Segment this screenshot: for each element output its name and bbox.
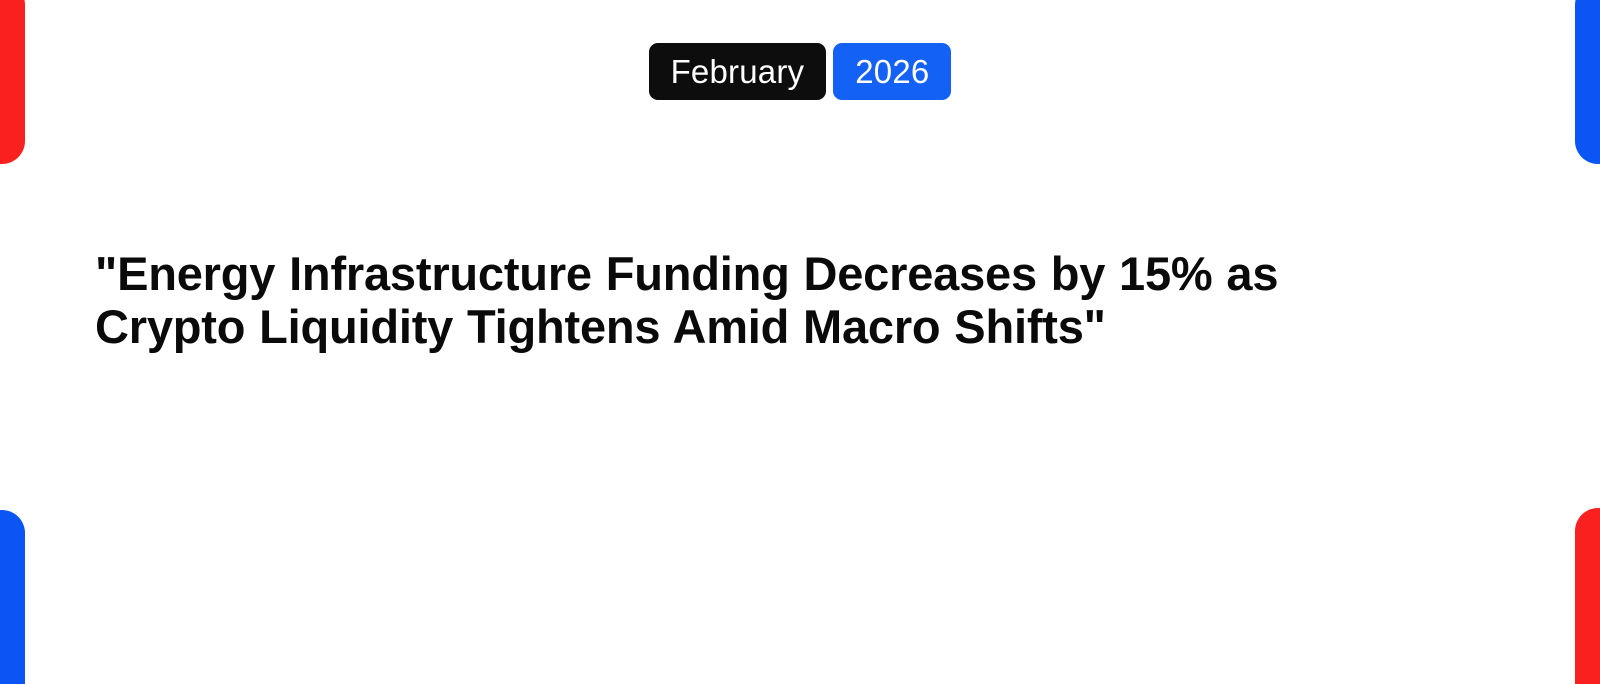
news-headline-card: February 2026 "Energy Infrastructure Fun… [0, 0, 1600, 684]
month-badge: February [649, 43, 827, 100]
year-badge: 2026 [833, 43, 951, 100]
date-badge-row: February 2026 [0, 43, 1600, 100]
headline-text: "Energy Infrastructure Funding Decreases… [95, 247, 1365, 353]
decorative-bar-bottom-right [1575, 508, 1600, 684]
decorative-bar-bottom-left [0, 510, 25, 684]
